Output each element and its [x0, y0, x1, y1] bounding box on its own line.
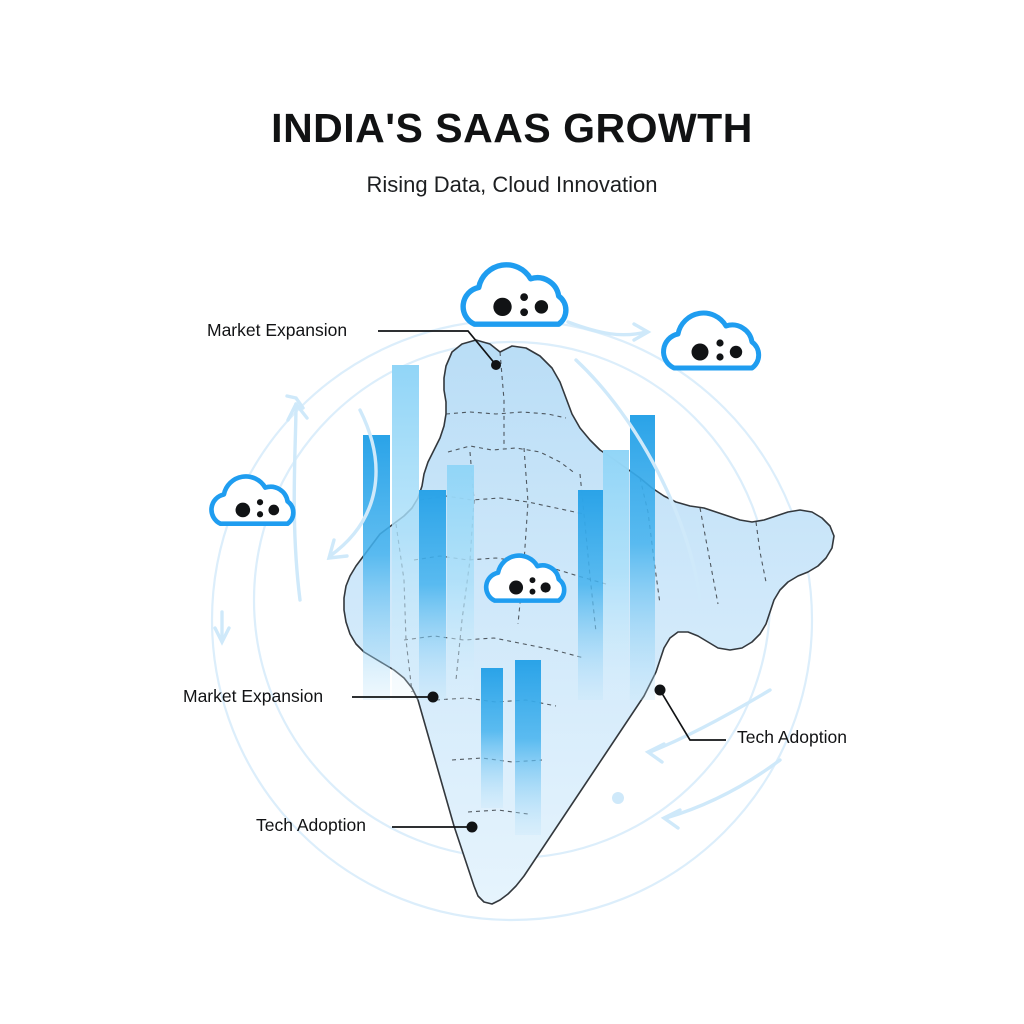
bar-column — [515, 660, 541, 835]
bar-column — [447, 465, 474, 700]
leader-dot-south — [467, 822, 478, 833]
callout-label-market-expansion-west: Market Expansion — [183, 688, 323, 706]
bar-column — [419, 490, 446, 700]
callout-label-tech-adoption-east: Tech Adoption — [737, 729, 847, 747]
leader-dot-east — [655, 685, 666, 696]
infographic-graphics — [0, 0, 1024, 1024]
callout-label-market-expansion-north: Market Expansion — [207, 322, 347, 340]
infographic-canvas: INDIA'S SAAS GROWTH Rising Data, Cloud I… — [0, 0, 1024, 1024]
bar-column — [603, 450, 629, 700]
bar-column — [481, 668, 503, 808]
leader-dot-north — [491, 360, 501, 370]
cloud-icon — [664, 313, 759, 368]
bar-column — [578, 490, 603, 700]
cloud-icon — [463, 265, 566, 324]
bar-column — [392, 365, 419, 700]
leader-dot-west — [428, 692, 439, 703]
callout-label-tech-adoption-south: Tech Adoption — [256, 817, 366, 835]
